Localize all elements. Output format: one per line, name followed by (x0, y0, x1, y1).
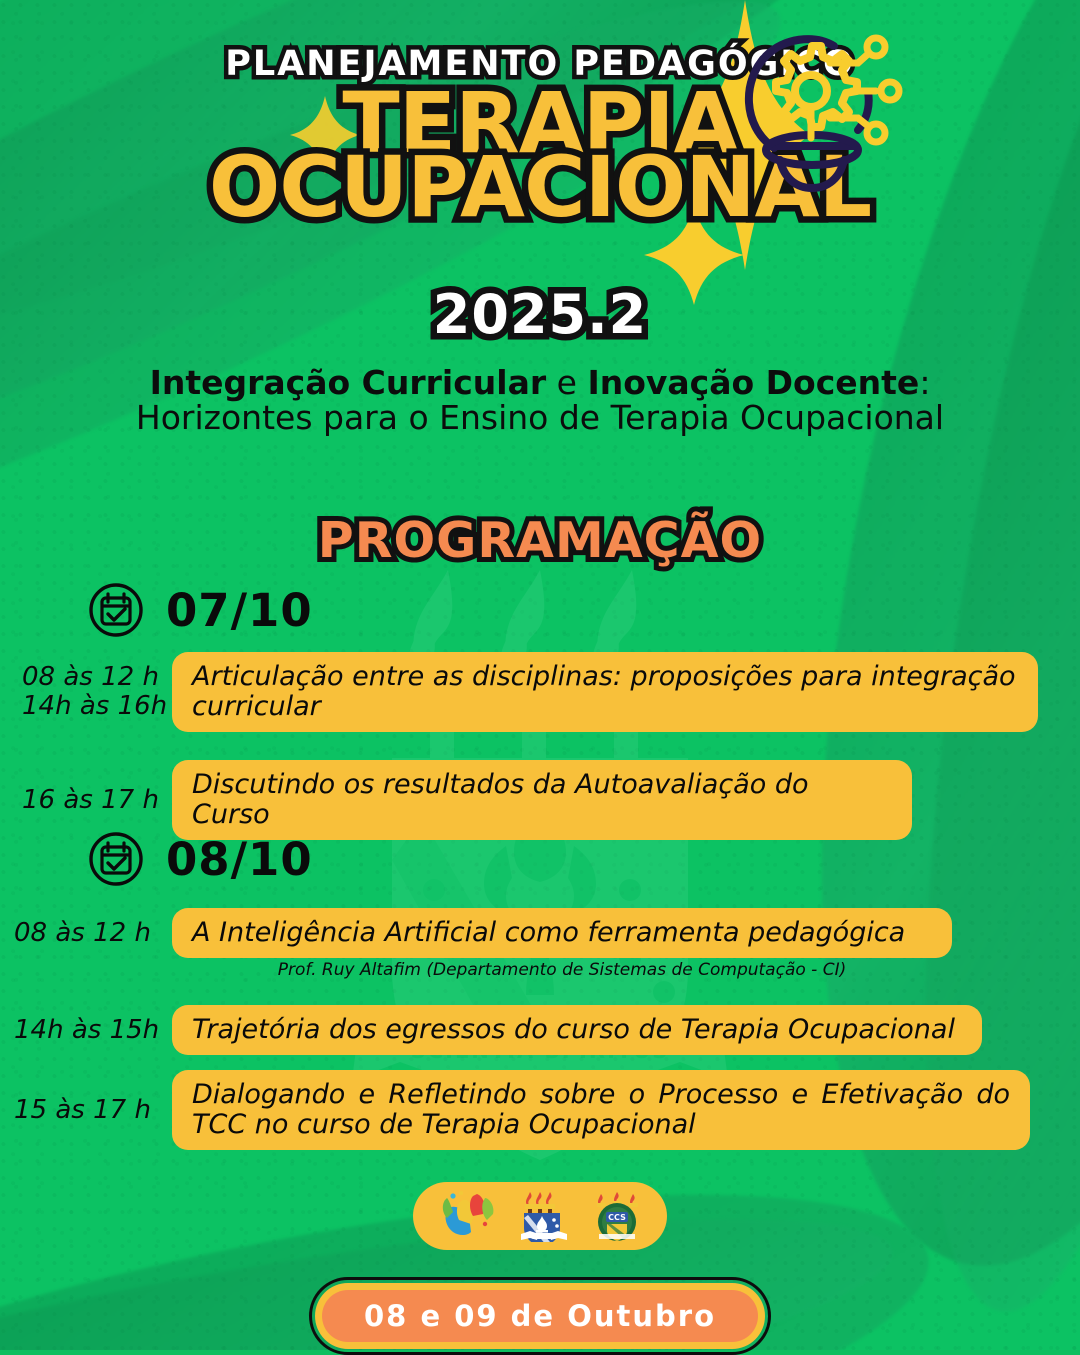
row-speaker: Prof. Ruy Altafim (Departamento de Siste… (172, 960, 952, 980)
schedule-row: 15 às 17 h Dialogando e Refletindo sobre… (14, 1070, 1030, 1150)
svg-text:CCS: CCS (608, 1213, 626, 1222)
calendar-check-icon (88, 582, 144, 638)
schedule-row: 16 às 17 h Discutindo os resultados da A… (22, 760, 912, 840)
schedule-row: 14h às 15h Trajetória dos egressos do cu… (14, 1005, 982, 1055)
row-time: 08 às 12 h (14, 919, 172, 948)
title-line-2: OCUPACIONAL (0, 150, 1080, 226)
row-time: 14h às 15h (14, 1016, 172, 1045)
subtitle: Integração Curricular e Inovação Docente… (120, 366, 960, 436)
programming-heading: PROGRAMAÇÃO (0, 512, 1080, 569)
logo-bar: CCS (413, 1182, 667, 1250)
terapia-ocupacional-hands-logo (439, 1190, 495, 1242)
schedule-row: 08 às 12 h 14h às 16h Articulação entre … (22, 652, 1038, 732)
day-date-label: 07/10 (166, 584, 313, 637)
date-badge-ring: 08 e 09 de Outubro (315, 1283, 765, 1349)
calendar-check-icon (88, 831, 144, 887)
ccs-shield-logo: CCS (593, 1190, 641, 1242)
row-title: Discutindo os resultados da Autoavaliaçã… (172, 760, 912, 840)
row-title: Articulação entre as disciplinas: propos… (172, 652, 1038, 732)
row-title: Trajetória dos egressos do curso de Tera… (172, 1005, 982, 1055)
day-header-08-10: 08/10 (88, 831, 313, 887)
row-title: A Inteligência Artificial como ferrament… (172, 908, 952, 958)
row-title: Dialogando e Refletindo sobre o Processo… (172, 1070, 1030, 1150)
lightbulb-gear-circuit-icon (718, 18, 918, 198)
row-time: 08 às 12 h 14h às 16h (22, 663, 172, 721)
day-date-label: 08/10 (166, 833, 313, 886)
subtitle-bold-1: Integração Curricular (150, 363, 547, 402)
schedule-row: 08 às 12 h A Inteligência Artificial com… (14, 908, 952, 958)
year-badge: 2025.2 (0, 283, 1080, 346)
subtitle-connector: e (546, 363, 587, 402)
date-badge-outline: 08 e 09 de Outubro (309, 1277, 771, 1355)
day-header-07-10: 07/10 (88, 582, 313, 638)
row-time: 16 às 17 h (22, 786, 172, 815)
row-time: 15 às 17 h (14, 1096, 172, 1125)
subtitle-bold-2: Inovação Docente (587, 363, 919, 402)
date-badge: 08 e 09 de Outubro (309, 1277, 771, 1355)
date-badge-label: 08 e 09 de Outubro (322, 1290, 758, 1342)
ufpb-crest-logo (521, 1190, 567, 1242)
